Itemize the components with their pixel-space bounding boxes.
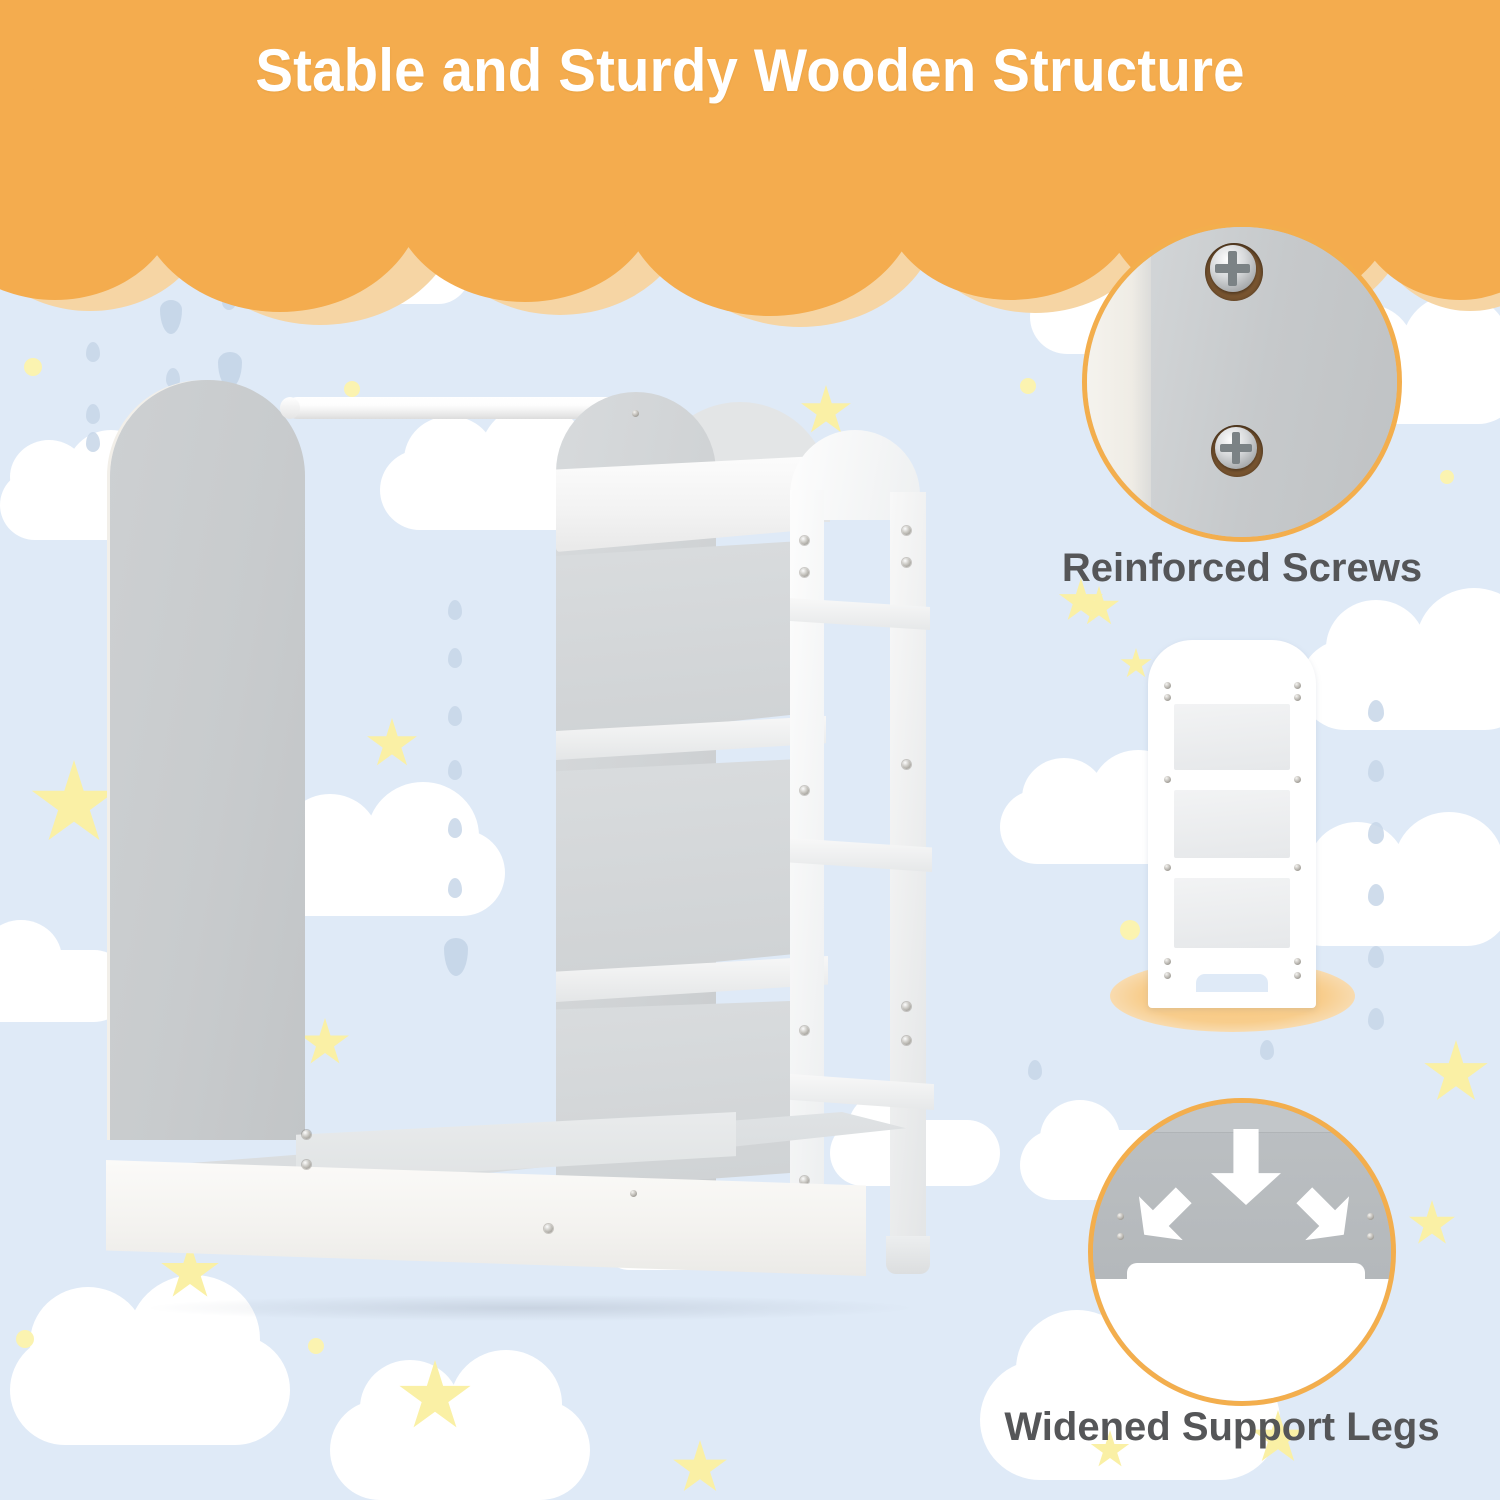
screw-mark <box>1294 694 1301 701</box>
thumbnail-shelf-opening <box>1174 704 1290 770</box>
callout-label-widened-support-legs: Widened Support Legs <box>962 1405 1482 1450</box>
screw-mark <box>902 1036 911 1045</box>
sparkle-dot <box>1020 378 1036 394</box>
callout-white-edge <box>1087 227 1151 537</box>
screw-mark <box>1367 1213 1374 1220</box>
callout-base-white <box>1093 1279 1391 1406</box>
thumbnail-shelf-opening <box>1174 790 1290 858</box>
thumbnail-shelf-opening <box>1174 878 1290 948</box>
callout-widened-support-legs <box>1088 1098 1396 1406</box>
screw-mark <box>800 1026 809 1035</box>
sparkle-dot <box>1120 920 1140 940</box>
screw-mark <box>632 410 639 417</box>
screw-mark <box>1164 682 1171 689</box>
screw-mark <box>902 1002 911 1011</box>
base-tray-front-panel <box>106 1160 866 1276</box>
callout-reinforced-screws <box>1082 222 1402 542</box>
star-shape <box>672 1440 728 1496</box>
raindrop <box>1368 760 1384 782</box>
screw-mark <box>1164 972 1171 979</box>
screw-mark <box>1117 1213 1124 1220</box>
product-side-view-thumbnail <box>1148 640 1316 1008</box>
screw-mark <box>1294 972 1301 979</box>
screw-mark <box>1367 1233 1374 1240</box>
screw-mark <box>800 536 809 545</box>
screw-mark <box>1294 682 1301 689</box>
screw-mark <box>1164 958 1171 965</box>
center-shelf-cavity <box>556 758 818 978</box>
screw-mark <box>544 1224 553 1233</box>
screw-mark <box>1294 958 1301 965</box>
base-tray <box>106 1112 926 1312</box>
raindrop <box>1368 1008 1384 1030</box>
hanging-rod-end-cap <box>280 397 300 419</box>
sparkle-dot <box>308 1338 324 1354</box>
screw-mark <box>902 526 911 535</box>
callout-base-lip <box>1127 1263 1365 1285</box>
screw-mark <box>1117 1233 1124 1240</box>
screw-mark <box>1164 694 1171 701</box>
screw-mark <box>1164 864 1171 871</box>
thumbnail-leg-cutout <box>1196 974 1268 992</box>
marketing-image-canvas: Stable and Sturdy Wooden Structure <box>0 0 1500 1500</box>
screw-mark <box>1164 776 1171 783</box>
raindrop <box>1368 822 1384 844</box>
center-top-front-lip <box>556 456 818 552</box>
callout-gray-panel <box>1151 227 1402 537</box>
raindrop <box>1368 946 1384 968</box>
screw-mark <box>800 568 809 577</box>
header-banner: Stable and Sturdy Wooden Structure <box>0 0 1500 230</box>
raindrop <box>1368 884 1384 906</box>
callout-top-plate <box>1153 1098 1343 1133</box>
sparkle-dot <box>16 1330 34 1348</box>
callout-label-reinforced-screws: Reinforced Screws <box>1022 546 1462 591</box>
page-title: Stable and Sturdy Wooden Structure <box>45 36 1455 105</box>
screw-mark <box>1294 776 1301 783</box>
star-shape <box>1423 1040 1489 1106</box>
screw-mark <box>1294 864 1301 871</box>
raindrop <box>86 342 100 362</box>
sparkle-dot <box>1440 470 1454 484</box>
cloud-shape <box>1300 640 1500 730</box>
cloud-shape <box>10 1335 290 1445</box>
center-shelf-cavity <box>556 540 818 740</box>
raindrop <box>1260 1040 1274 1060</box>
screw-mark <box>902 558 911 567</box>
screw-icon <box>1205 243 1263 301</box>
screw-mark <box>302 1130 311 1139</box>
screw-mark <box>800 786 809 795</box>
screw-mark <box>630 1190 637 1197</box>
raindrop-large <box>160 300 182 334</box>
screw-mark <box>902 760 911 769</box>
main-product-photo <box>90 370 970 1330</box>
raindrop <box>1368 700 1384 722</box>
sparkle-dot <box>24 358 42 376</box>
screw-mark <box>302 1160 311 1169</box>
left-panel <box>110 380 305 1140</box>
star-shape <box>1408 1200 1456 1248</box>
cloud-shape <box>330 1400 590 1500</box>
screw-icon <box>1211 425 1263 477</box>
